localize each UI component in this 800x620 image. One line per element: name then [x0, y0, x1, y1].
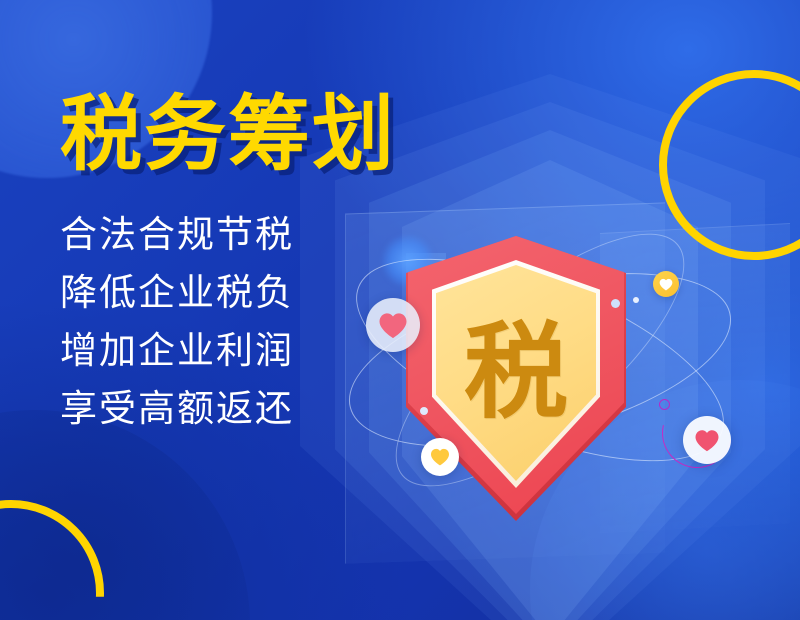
floating-dot-3-icon	[420, 407, 428, 415]
main-shield-illustration: 税	[406, 236, 626, 521]
heart-icon	[430, 448, 450, 466]
heart-icon	[694, 429, 720, 452]
benefit-item-2: 降低企业税负	[60, 274, 294, 311]
heart-badge-right	[683, 416, 731, 464]
floating-dot-2-icon	[633, 297, 639, 303]
tax-planning-banner: 税 税务筹划 合法合规节税 降低企业税负 增加企业利润 享受高额返还	[0, 0, 800, 620]
floating-dot-1-icon	[611, 299, 620, 308]
heart-badge-bottom-left	[421, 438, 459, 476]
benefit-item-1: 合法合规节税	[60, 216, 294, 253]
benefit-item-3: 增加企业利润	[60, 332, 294, 369]
benefit-item-4: 享受高额返还	[60, 390, 294, 427]
heart-badge-top-right	[653, 271, 679, 297]
page-title: 税务筹划	[60, 94, 396, 176]
benefit-list: 合法合规节税 降低企业税负 增加企业利润 享受高额返还	[60, 216, 294, 427]
heart-icon	[659, 278, 673, 291]
copy-block: 税务筹划 合法合规节税 降低企业税负 增加企业利润 享受高额返还	[0, 0, 400, 620]
shield-character-label: 税	[436, 265, 596, 481]
magenta-ring-icon	[659, 399, 670, 410]
